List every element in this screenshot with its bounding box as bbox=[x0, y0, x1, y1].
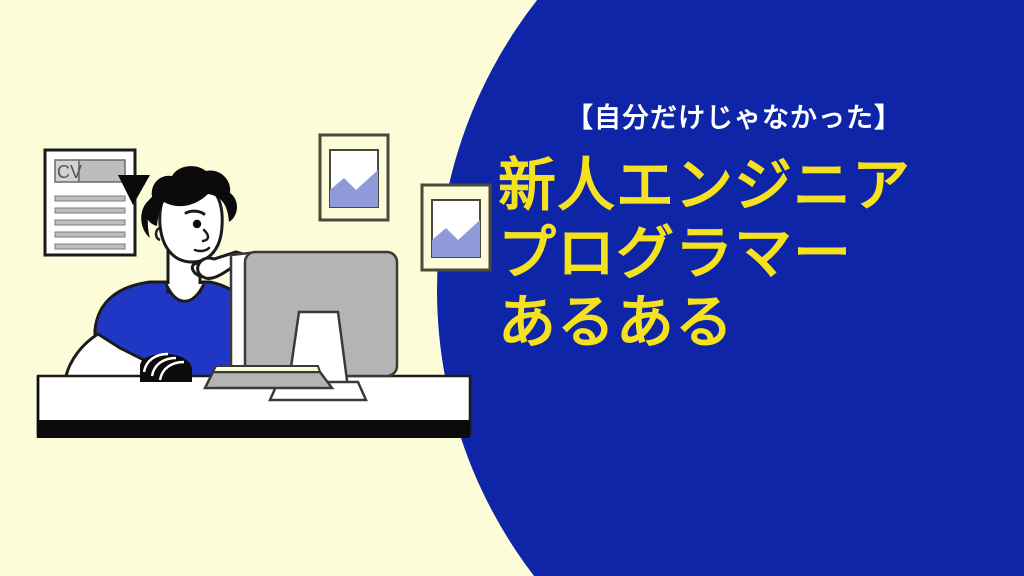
cv-header-label: CV bbox=[57, 162, 82, 182]
headline-line-3: あるある bbox=[498, 289, 998, 357]
thumbnail-canvas: CV bbox=[0, 0, 1024, 576]
framed-picture-large bbox=[320, 135, 388, 220]
framed-picture-small bbox=[422, 185, 490, 270]
headline-line-1: 新人エンジニア bbox=[498, 152, 998, 220]
cv-document: CV bbox=[45, 150, 135, 255]
headline-block: 【自分だけじゃなかった】 新人エンジニア プログラマー あるある bbox=[498, 104, 998, 357]
keyboard bbox=[205, 366, 332, 388]
headline-line-2: プログラマー bbox=[498, 220, 998, 288]
developer-at-desk-illustration: CV bbox=[0, 0, 500, 576]
eyebrow-text: 【自分だけじゃなかった】 bbox=[498, 104, 998, 134]
headline-text: 新人エンジニア プログラマー あるある bbox=[498, 152, 998, 357]
